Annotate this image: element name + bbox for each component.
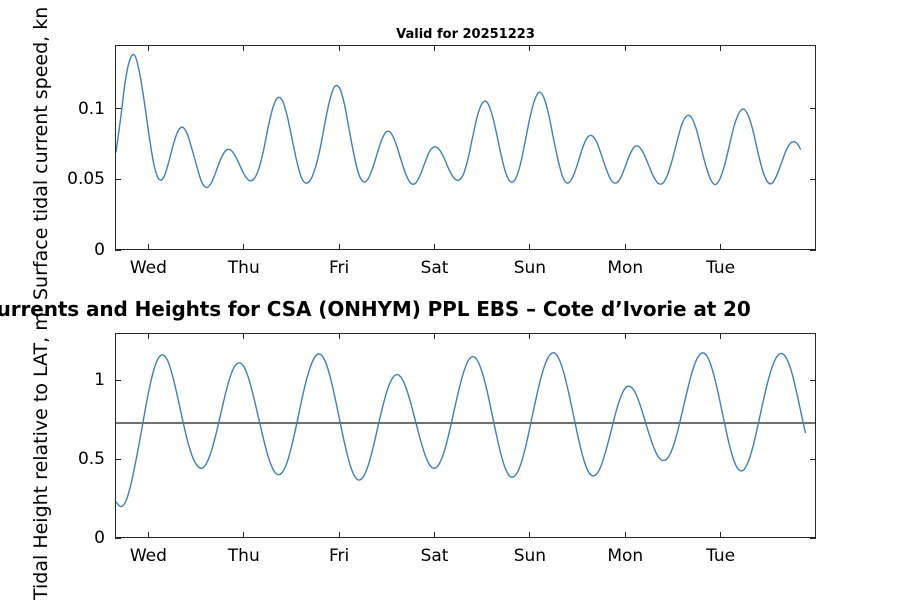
top-chart-plot-area	[115, 45, 816, 250]
data-series-line	[116, 353, 805, 507]
tidal-height-line-chart	[116, 334, 815, 537]
x-axis-tick	[625, 532, 626, 538]
bottom-chart-canvas	[116, 334, 815, 537]
x-axis-tick	[434, 244, 435, 250]
x-axis-tick	[148, 333, 149, 339]
x-axis-tick	[148, 532, 149, 538]
data-series-line	[116, 55, 801, 188]
figure-title: Currents and Heights for CSA (ONHYM) PPL…	[0, 297, 900, 321]
y-axis-tick-label: 0.05	[53, 169, 105, 189]
top-chart-title: Valid for 20251223	[115, 27, 816, 42]
x-axis-tick-label: Sun	[514, 258, 546, 278]
x-axis-tick	[529, 45, 530, 51]
x-axis-tick-label: Fri	[329, 258, 349, 278]
x-axis-tick-label: Tue	[706, 546, 735, 566]
x-axis-tick	[434, 333, 435, 339]
y-axis-tick	[810, 459, 816, 460]
x-axis-tick-label: Wed	[130, 546, 167, 566]
x-axis-tick	[720, 333, 721, 339]
y-axis-tick	[115, 249, 121, 250]
y-axis-tick	[115, 380, 121, 381]
x-axis-tick	[529, 244, 530, 250]
x-axis-tick-label: Wed	[130, 258, 167, 278]
x-axis-tick-label: Mon	[607, 258, 643, 278]
x-axis-tick-label: Sun	[514, 546, 546, 566]
x-axis-tick	[529, 532, 530, 538]
x-axis-tick	[720, 45, 721, 51]
x-axis-tick	[434, 45, 435, 51]
y-axis-tick	[810, 108, 816, 109]
x-axis-tick-label: Sat	[421, 258, 449, 278]
y-axis-tick	[810, 537, 816, 538]
x-axis-tick-label: Sat	[421, 546, 449, 566]
x-axis-tick	[339, 45, 340, 51]
x-axis-tick	[243, 45, 244, 51]
bottom-chart-y-axis-label: Tidal Height relative to LAT, m	[30, 312, 52, 600]
x-axis-tick	[148, 45, 149, 51]
y-axis-tick-label: 0	[53, 240, 105, 260]
x-axis-tick	[243, 532, 244, 538]
x-axis-tick-label: Thu	[228, 546, 260, 566]
x-axis-tick	[243, 244, 244, 250]
y-axis-tick	[115, 459, 121, 460]
y-axis-tick	[115, 179, 121, 180]
bottom-chart-plot-area	[115, 333, 816, 538]
x-axis-tick	[339, 244, 340, 250]
x-axis-tick	[339, 333, 340, 339]
x-axis-tick-label: Fri	[329, 546, 349, 566]
y-axis-tick-label: 0.5	[53, 449, 105, 469]
x-axis-tick	[625, 244, 626, 250]
y-axis-tick	[810, 380, 816, 381]
x-axis-tick	[243, 333, 244, 339]
x-axis-tick	[148, 244, 149, 250]
x-axis-tick	[434, 532, 435, 538]
y-axis-tick	[810, 249, 816, 250]
x-axis-tick	[720, 532, 721, 538]
tide-figure: Valid for 20251223 Surface tidal current…	[0, 0, 900, 600]
x-axis-tick-label: Mon	[607, 546, 643, 566]
y-axis-tick-label: 0.1	[53, 99, 105, 119]
y-axis-tick	[115, 108, 121, 109]
x-axis-tick	[339, 532, 340, 538]
top-chart-y-axis-label: Surface tidal current speed, kn	[30, 7, 52, 300]
x-axis-tick	[625, 333, 626, 339]
x-axis-tick	[625, 45, 626, 51]
y-axis-tick-label: 1	[53, 370, 105, 390]
x-axis-tick	[720, 244, 721, 250]
x-axis-tick-label: Thu	[228, 258, 260, 278]
y-axis-tick	[810, 179, 816, 180]
top-chart-canvas	[116, 46, 815, 249]
x-axis-tick	[529, 333, 530, 339]
y-axis-tick	[115, 537, 121, 538]
surface-current-speed-line-chart	[116, 46, 815, 249]
y-axis-tick-label: 0	[53, 528, 105, 548]
x-axis-tick-label: Tue	[706, 258, 735, 278]
